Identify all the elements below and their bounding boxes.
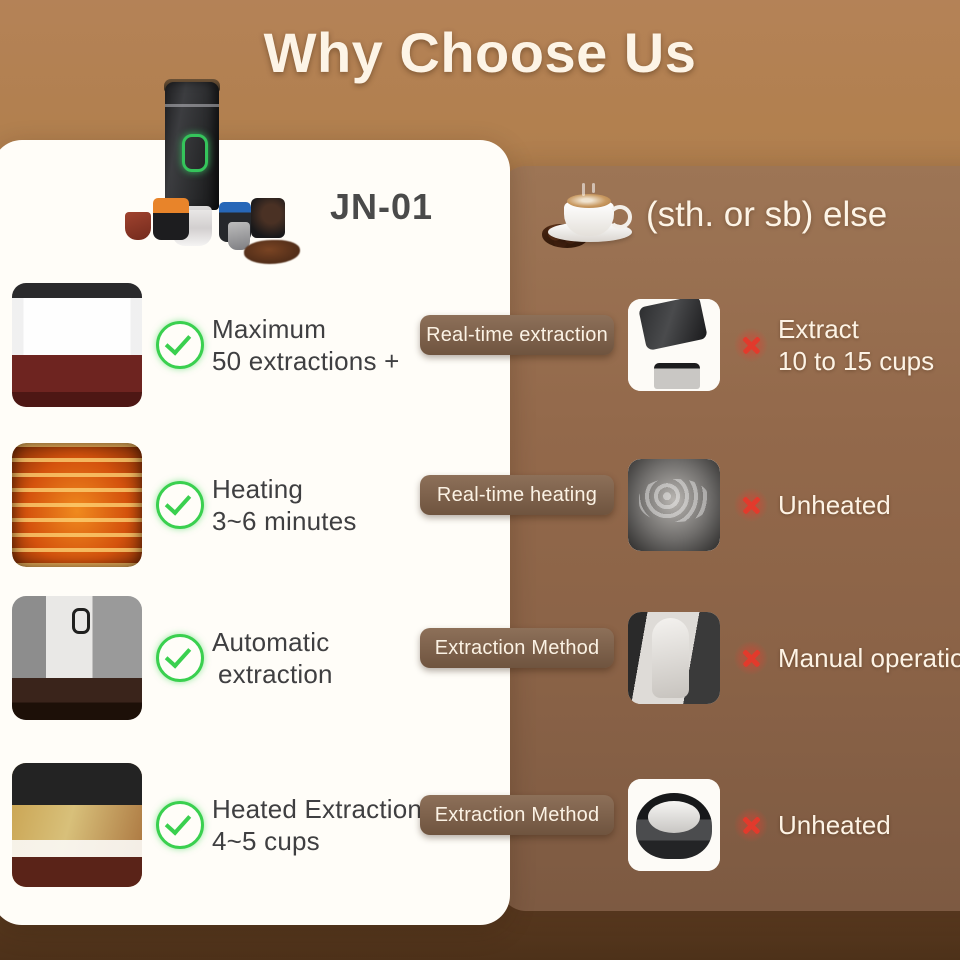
competitor-feature-text: Manual operation <box>778 642 960 675</box>
red-cross-icon <box>734 808 768 842</box>
power-indicator-icon <box>182 134 208 172</box>
red-cross-icon <box>734 488 768 522</box>
product-feature-line1: Heated Extraction <box>212 793 422 826</box>
product-feature-line1: Heating <box>212 473 357 506</box>
competitor-feature-item: Manual operation <box>628 578 960 738</box>
capsule-holder <box>251 198 285 238</box>
green-check-icon <box>156 634 204 682</box>
green-check-icon <box>156 801 204 849</box>
product-feature-item: Automatic extraction <box>12 578 432 738</box>
competitor-feature-text: Unheated <box>778 809 891 842</box>
category-label: Real-time heating <box>420 475 614 515</box>
product-feature-item: Heated Extraction 4~5 cups <box>12 745 432 905</box>
heating-element-thumbnail <box>12 443 142 567</box>
competitor-feature-line1: Unheated <box>778 489 891 522</box>
competitor-feature-text: Extract 10 to 15 cups <box>778 313 934 378</box>
category-label: Real-time extraction <box>420 315 614 355</box>
capsule-red <box>125 212 151 240</box>
cup-handle-shape <box>608 205 632 229</box>
heated-extraction-thumbnail <box>12 763 142 887</box>
competitor-feature-text: Unheated <box>778 489 891 522</box>
category-label: Extraction Method <box>420 628 614 668</box>
coffee-cup-icon <box>540 182 644 248</box>
hand-pressing-thumbnail <box>628 612 720 704</box>
category-label: Extraction Method <box>420 795 614 835</box>
product-feature-line2: 4~5 cups <box>212 825 422 858</box>
product-feature-line2: 3~6 minutes <box>212 505 357 538</box>
hero-product-image <box>120 82 300 267</box>
empty-filter-basket-thumbnail <box>628 779 720 871</box>
product-feature-text: Heated Extraction 4~5 cups <box>212 793 422 858</box>
green-check-icon <box>156 321 204 369</box>
latte-art-shape <box>567 194 611 208</box>
steam-icon-2 <box>592 183 595 193</box>
page-title: Why Choose Us <box>0 20 960 85</box>
competitor-feature-line2: 10 to 15 cups <box>778 345 934 378</box>
competitor-feature-item: Unheated <box>628 745 891 905</box>
competitor-feature-line1: Unheated <box>778 809 891 842</box>
product-feature-text: Heating 3~6 minutes <box>212 473 357 538</box>
automatic-brewing-thumbnail <box>12 596 142 720</box>
product-feature-item: Maximum 50 extractions + <box>12 265 432 425</box>
comparison-row: Automatic extraction Extraction Method M… <box>0 578 960 738</box>
competitor-feature-item: Unheated <box>628 425 891 585</box>
competitor-feature-line1: Manual operation <box>778 642 960 675</box>
capsule-orange <box>153 198 189 240</box>
competitor-title: (sth. or sb) else <box>646 195 887 235</box>
comparison-row: Heated Extraction 4~5 cups Extraction Me… <box>0 745 960 905</box>
product-model-label: JN-01 <box>330 186 433 228</box>
product-feature-text: Maximum 50 extractions + <box>212 313 399 378</box>
cold-water-vessel-thumbnail <box>628 459 720 551</box>
steam-icon <box>582 183 585 196</box>
product-feature-item: Heating 3~6 minutes <box>12 425 432 585</box>
comparison-row: Heating 3~6 minutes Real-time heating Un… <box>0 425 960 585</box>
machine-ring <box>165 104 219 107</box>
red-cross-icon <box>734 641 768 675</box>
product-feature-line1: Maximum <box>212 313 399 346</box>
pouring-coffee-thumbnail <box>628 299 720 391</box>
product-feature-line1: Automatic <box>212 626 333 659</box>
competitor-header: (sth. or sb) else <box>540 182 887 248</box>
product-feature-line2: 50 extractions + <box>212 345 399 378</box>
product-feature-text: Automatic extraction <box>212 626 333 691</box>
competitor-feature-item: Extract 10 to 15 cups <box>628 265 934 425</box>
comparison-row: Maximum 50 extractions + Real-time extra… <box>0 265 960 425</box>
green-check-icon <box>156 481 204 529</box>
product-feature-line2: extraction <box>212 658 333 691</box>
coffee-grounds <box>244 240 300 264</box>
red-cross-icon <box>734 328 768 362</box>
extraction-chamber-thumbnail <box>12 283 142 407</box>
why-choose-us-infographic: Why Choose Us JN-01 (sth. or sb) else <box>0 0 960 960</box>
competitor-feature-line1: Extract <box>778 313 934 346</box>
